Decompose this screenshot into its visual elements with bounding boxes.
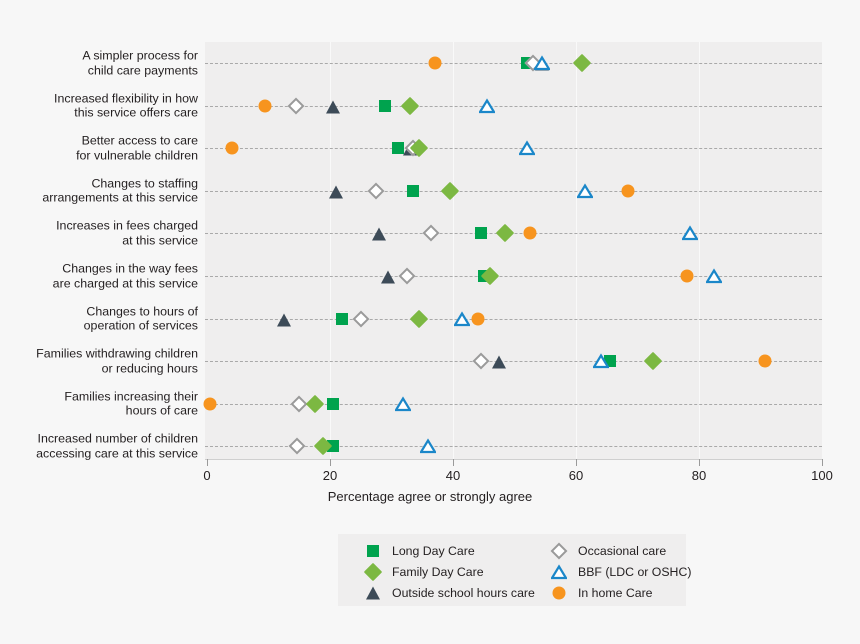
category-label: Increased number of children accessing c… bbox=[0, 432, 198, 461]
legend-marker-glyph bbox=[364, 562, 382, 580]
legend-label: Family Day Care bbox=[392, 565, 484, 579]
data-point bbox=[593, 354, 609, 369]
data-point bbox=[492, 356, 506, 369]
data-point bbox=[706, 269, 722, 284]
category-label: Families withdrawing children or reducin… bbox=[0, 347, 198, 376]
legend-label: In home Care bbox=[578, 586, 653, 600]
gridline-x-60 bbox=[576, 42, 577, 459]
data-point bbox=[204, 397, 217, 410]
x-tick bbox=[453, 459, 454, 466]
data-point bbox=[622, 184, 635, 197]
category-line bbox=[205, 63, 822, 64]
category-line bbox=[205, 191, 822, 192]
x-tick-label: 60 bbox=[569, 468, 583, 483]
x-tick bbox=[576, 459, 577, 466]
x-tick-label: 20 bbox=[323, 468, 337, 483]
x-tick bbox=[207, 459, 208, 466]
data-point bbox=[471, 312, 484, 325]
legend-marker-icon bbox=[548, 542, 570, 560]
category-label: Increased flexibility in how this servic… bbox=[0, 91, 198, 120]
data-point bbox=[420, 439, 436, 454]
data-point bbox=[327, 398, 339, 410]
legend-label: Long Day Care bbox=[392, 544, 475, 558]
legend-marker-icon bbox=[548, 563, 570, 581]
data-point bbox=[407, 185, 419, 197]
gridline-x-80 bbox=[699, 42, 700, 459]
x-tick bbox=[822, 459, 823, 466]
data-point bbox=[428, 57, 441, 70]
category-label: Families increasing their hours of care bbox=[0, 389, 198, 418]
legend-item[interactable]: In home Care bbox=[548, 582, 653, 603]
data-point bbox=[475, 227, 487, 239]
data-point bbox=[326, 100, 340, 113]
category-line bbox=[205, 148, 822, 149]
legend-item[interactable]: BBF (LDC or OSHC) bbox=[548, 561, 691, 582]
category-label: Changes in the way fees are charged at t… bbox=[0, 261, 198, 290]
data-point bbox=[381, 271, 395, 284]
category-label: Better access to care for vulnerable chi… bbox=[0, 134, 198, 163]
legend-marker-glyph bbox=[367, 545, 379, 557]
legend-marker-icon bbox=[362, 542, 384, 560]
category-line bbox=[205, 361, 822, 362]
x-tick-label: 0 bbox=[203, 468, 210, 483]
data-point bbox=[682, 226, 698, 241]
legend-marker-icon bbox=[548, 584, 570, 602]
legend-marker-icon bbox=[362, 563, 384, 581]
legend-marker-icon bbox=[362, 584, 384, 602]
data-point bbox=[454, 311, 470, 326]
category-label: Changes to hours of operation of service… bbox=[0, 304, 198, 333]
data-point bbox=[519, 141, 535, 156]
data-point bbox=[758, 355, 771, 368]
legend-marker-glyph bbox=[551, 542, 568, 559]
category-label: Increases in fees charged at this servic… bbox=[0, 219, 198, 248]
category-line bbox=[205, 276, 822, 277]
x-tick-label: 80 bbox=[692, 468, 706, 483]
legend-item[interactable]: Long Day Care bbox=[362, 540, 475, 561]
scatter-chart: A simpler process for child care payment… bbox=[0, 0, 860, 644]
x-axis-title: Percentage agree or strongly agree bbox=[0, 489, 860, 504]
data-point bbox=[395, 396, 411, 411]
x-tick bbox=[330, 459, 331, 466]
data-point bbox=[372, 228, 386, 241]
legend-item[interactable]: Outside school hours care bbox=[362, 582, 535, 603]
x-tick-label: 40 bbox=[446, 468, 460, 483]
data-point bbox=[329, 185, 343, 198]
gridline-x-40 bbox=[453, 42, 454, 459]
x-axis-line bbox=[205, 459, 822, 460]
legend-label: Outside school hours care bbox=[392, 586, 535, 600]
legend: Long Day CareFamily Day CareOutside scho… bbox=[338, 534, 686, 606]
x-tick bbox=[699, 459, 700, 466]
legend-label: BBF (LDC or OSHC) bbox=[578, 565, 691, 579]
legend-item[interactable]: Family Day Care bbox=[362, 561, 484, 582]
legend-label: Occasional care bbox=[578, 544, 666, 558]
data-point bbox=[392, 142, 404, 154]
data-point bbox=[534, 56, 550, 71]
data-point bbox=[523, 227, 536, 240]
category-line bbox=[205, 319, 822, 320]
data-point bbox=[379, 100, 391, 112]
category-label: Changes to staffing arrangements at this… bbox=[0, 176, 198, 205]
legend-marker-glyph bbox=[366, 586, 380, 599]
data-point bbox=[259, 99, 272, 112]
data-point bbox=[680, 270, 693, 283]
category-label: A simpler process for child care payment… bbox=[0, 48, 198, 77]
data-point bbox=[336, 313, 348, 325]
data-point bbox=[479, 98, 495, 113]
legend-marker-glyph bbox=[551, 564, 567, 579]
data-point bbox=[277, 313, 291, 326]
x-tick-label: 100 bbox=[811, 468, 833, 483]
data-point bbox=[577, 183, 593, 198]
legend-item[interactable]: Occasional care bbox=[548, 540, 666, 561]
legend-marker-glyph bbox=[553, 586, 566, 599]
data-point bbox=[225, 142, 238, 155]
